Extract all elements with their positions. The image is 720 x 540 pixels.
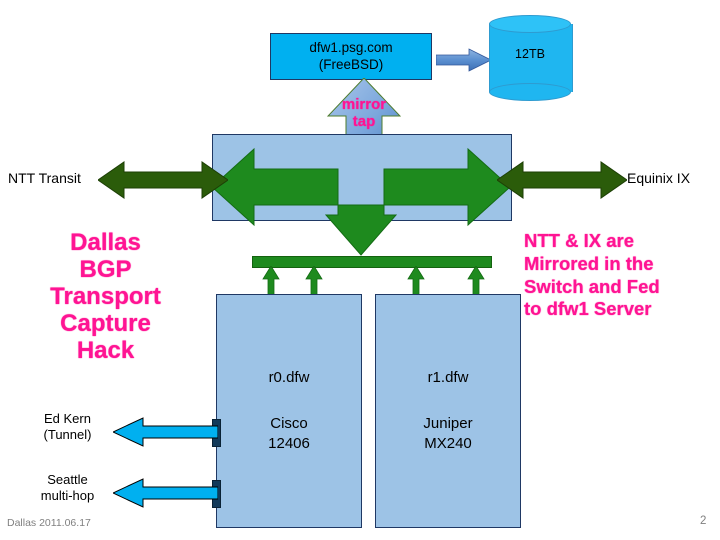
server-os: (FreeBSD) (319, 57, 384, 74)
router-name-r0: r0.dfw (269, 368, 310, 388)
mirror-tap-line1: mirror (327, 96, 401, 113)
cylinder-bottom (489, 83, 571, 101)
seattle-line1: Seattle (20, 472, 115, 488)
slide-canvas: dfw1.psg.com (FreeBSD) 12TB (0, 0, 720, 540)
storage-capacity-label: 12TB (489, 47, 571, 61)
slide-right-title: NTT & IX areMirrored in theSwitch and Fe… (524, 230, 720, 321)
router-model-r0: 12406 (268, 434, 310, 454)
switch-bus-bar (252, 256, 492, 268)
switch-mirror-flow-arrow-icon (212, 145, 510, 260)
seattle-line2: multi-hop (20, 488, 115, 504)
ed-kern-line1: Ed Kern (20, 411, 115, 427)
footer-venue-date: Dallas 2011.06.17 (7, 517, 91, 529)
router-model-r1: MX240 (424, 434, 472, 454)
ntt-transit-arrow-icon (98, 160, 228, 200)
ed-kern-line2: (Tunnel) (20, 427, 115, 443)
ed-kern-tunnel-label: Ed Kern (Tunnel) (20, 411, 115, 444)
equinix-ix-label: Equinix IX (627, 170, 690, 186)
ntt-transit-label: NTT Transit (8, 170, 81, 186)
router-box-r1[interactable]: r1.dfw Juniper MX240 (375, 294, 521, 528)
mirror-tap-line2: tap (327, 113, 401, 130)
ed-kern-tunnel-arrow-icon (113, 417, 218, 447)
seattle-multihop-label: Seattle multi-hop (20, 472, 115, 505)
router-name-r1: r1.dfw (428, 368, 469, 388)
page-number: 2 (700, 515, 706, 527)
server-hostname: dfw1.psg.com (309, 40, 392, 57)
mirror-tap-label: mirror tap (327, 96, 401, 131)
cylinder-top (489, 15, 571, 33)
storage-cylinder[interactable]: 12TB (489, 15, 571, 100)
router-vendor-r1: Juniper (423, 414, 472, 434)
slide-left-title: DallasBGPTransportCaptureHack (18, 230, 193, 364)
equinix-ix-arrow-icon (497, 160, 627, 200)
server-box-dfw1[interactable]: dfw1.psg.com (FreeBSD) (270, 33, 432, 80)
seattle-multihop-arrow-icon (113, 478, 218, 508)
router-box-r0[interactable]: r0.dfw Cisco 12406 (216, 294, 362, 528)
server-to-storage-arrow-icon (436, 48, 491, 72)
router-vendor-r0: Cisco (270, 414, 308, 434)
